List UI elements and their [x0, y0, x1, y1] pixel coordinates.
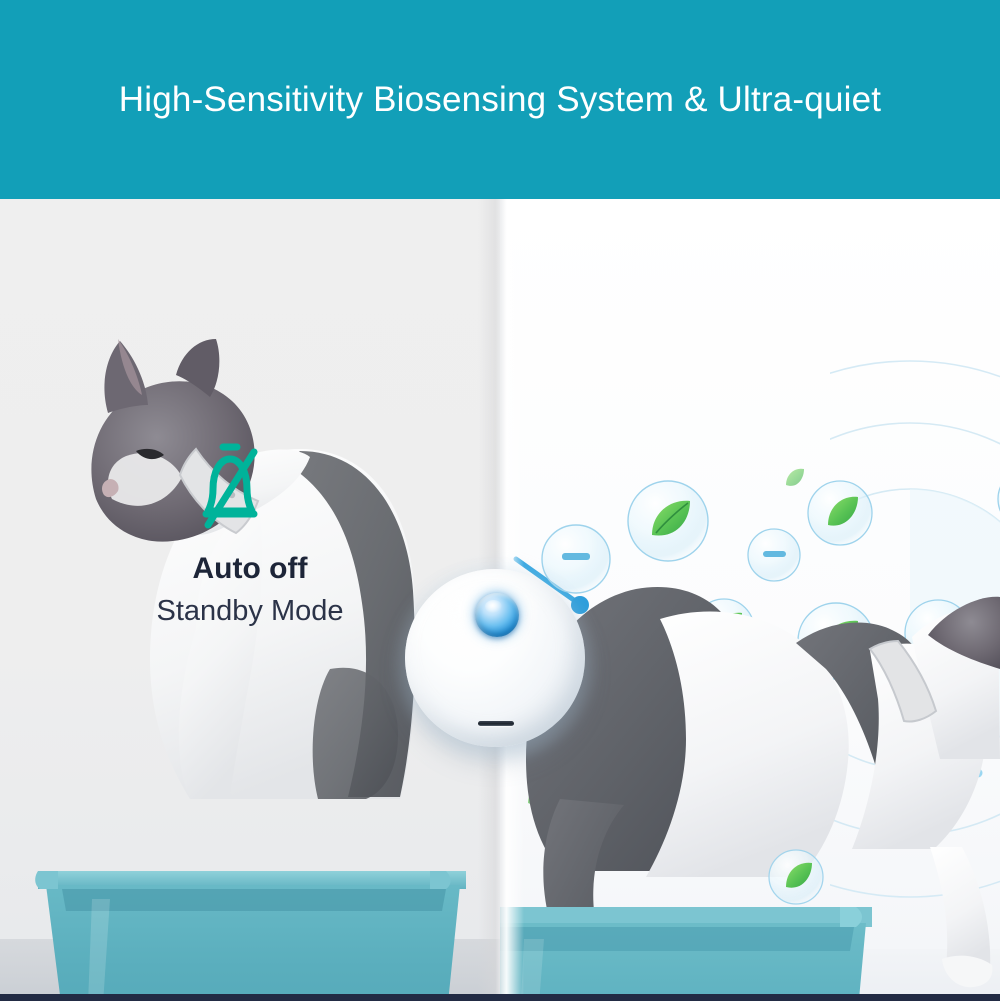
caption-standby: Auto off Standby Mode: [60, 551, 440, 630]
litter-box-left: [35, 871, 466, 1001]
caption-standby-title: Auto off: [60, 551, 440, 588]
litter-box-right: [500, 907, 872, 1001]
device-vent-slot: [478, 721, 514, 726]
device-body: [405, 569, 585, 747]
caption-standby-line-0: Standby Mode: [60, 592, 440, 630]
bottom-bar: [0, 994, 1000, 1001]
banner-title: High-Sensitivity Biosensing System & Ult…: [119, 80, 881, 120]
device-led-indicator[interactable]: [475, 593, 519, 637]
bell-off-icon: [186, 435, 274, 535]
comparison-stage: Auto off Standby Mode: [0, 199, 1000, 1001]
device-product: [392, 557, 598, 762]
product-feature-image: High-Sensitivity Biosensing System & Ult…: [0, 0, 1000, 1001]
header-banner: High-Sensitivity Biosensing System & Ult…: [0, 0, 1000, 199]
